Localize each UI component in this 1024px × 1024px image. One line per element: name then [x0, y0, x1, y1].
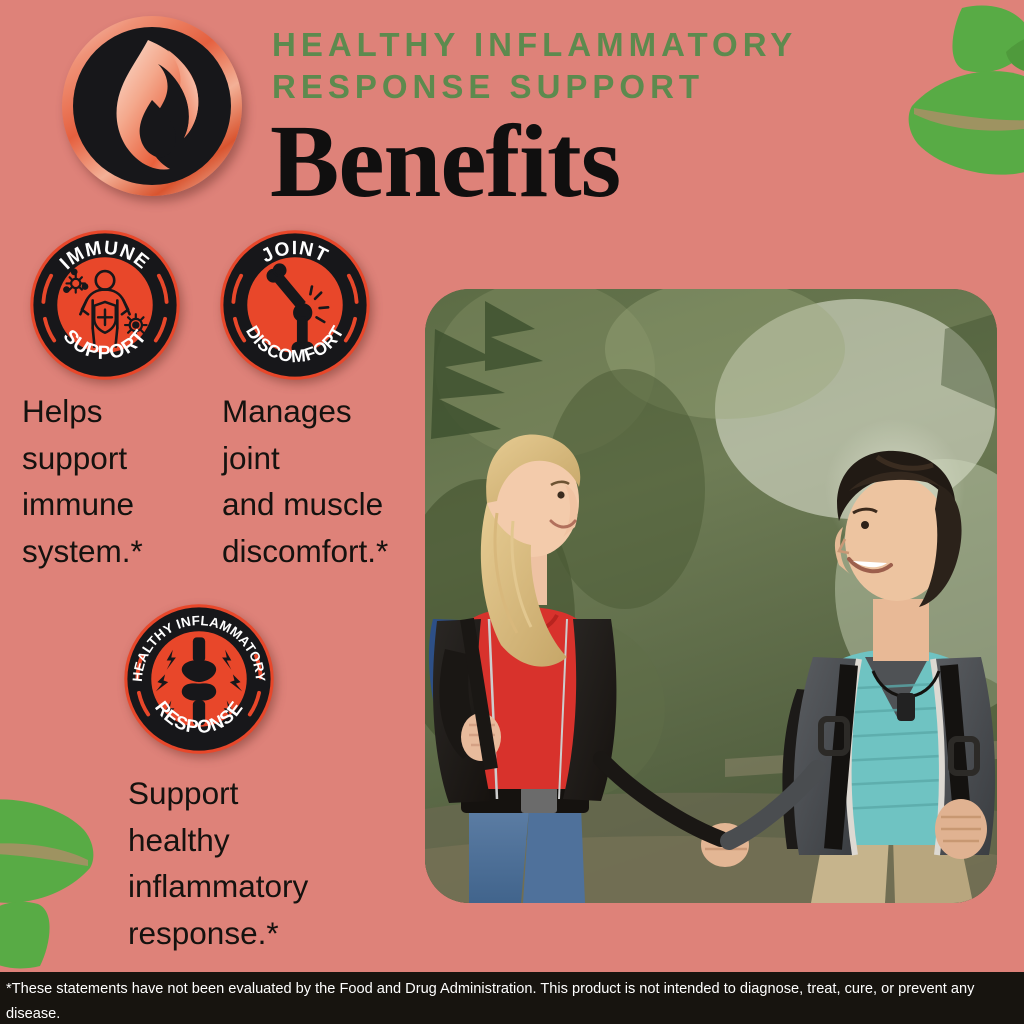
- caption-inflammatory-response: Support healthy inflammatory response.*: [128, 770, 428, 956]
- leaf-bottom-left-decoration: [0, 775, 100, 980]
- lifestyle-photo: [425, 289, 997, 903]
- page-title: Benefits: [270, 110, 620, 214]
- benefits-poster: HEALTHY INFLAMMATORY RESPONSE SUPPORT Be…: [0, 0, 1024, 1024]
- badge-joint-discomfort: JOINT DISCOMFORT: [218, 228, 372, 382]
- brand-flame-logo: [62, 16, 242, 196]
- disclaimer-text: *These statements have not been evaluate…: [6, 977, 1018, 1024]
- disclaimer-footer: *These statements have not been evaluate…: [0, 972, 1024, 1024]
- badge-healthy-inflammatory-response: HEALTHY INFLAMMATORY RESPONSE: [122, 602, 276, 756]
- eyebrow-heading: HEALTHY INFLAMMATORY RESPONSE SUPPORT: [272, 24, 972, 108]
- caption-joint-discomfort: Manages joint and muscle discomfort.*: [222, 388, 432, 574]
- caption-immune-support: Helps support immune system.*: [22, 388, 212, 574]
- badge-immune-support: IMMUNE SUPPORT: [28, 228, 182, 382]
- flame-icon: [96, 38, 208, 178]
